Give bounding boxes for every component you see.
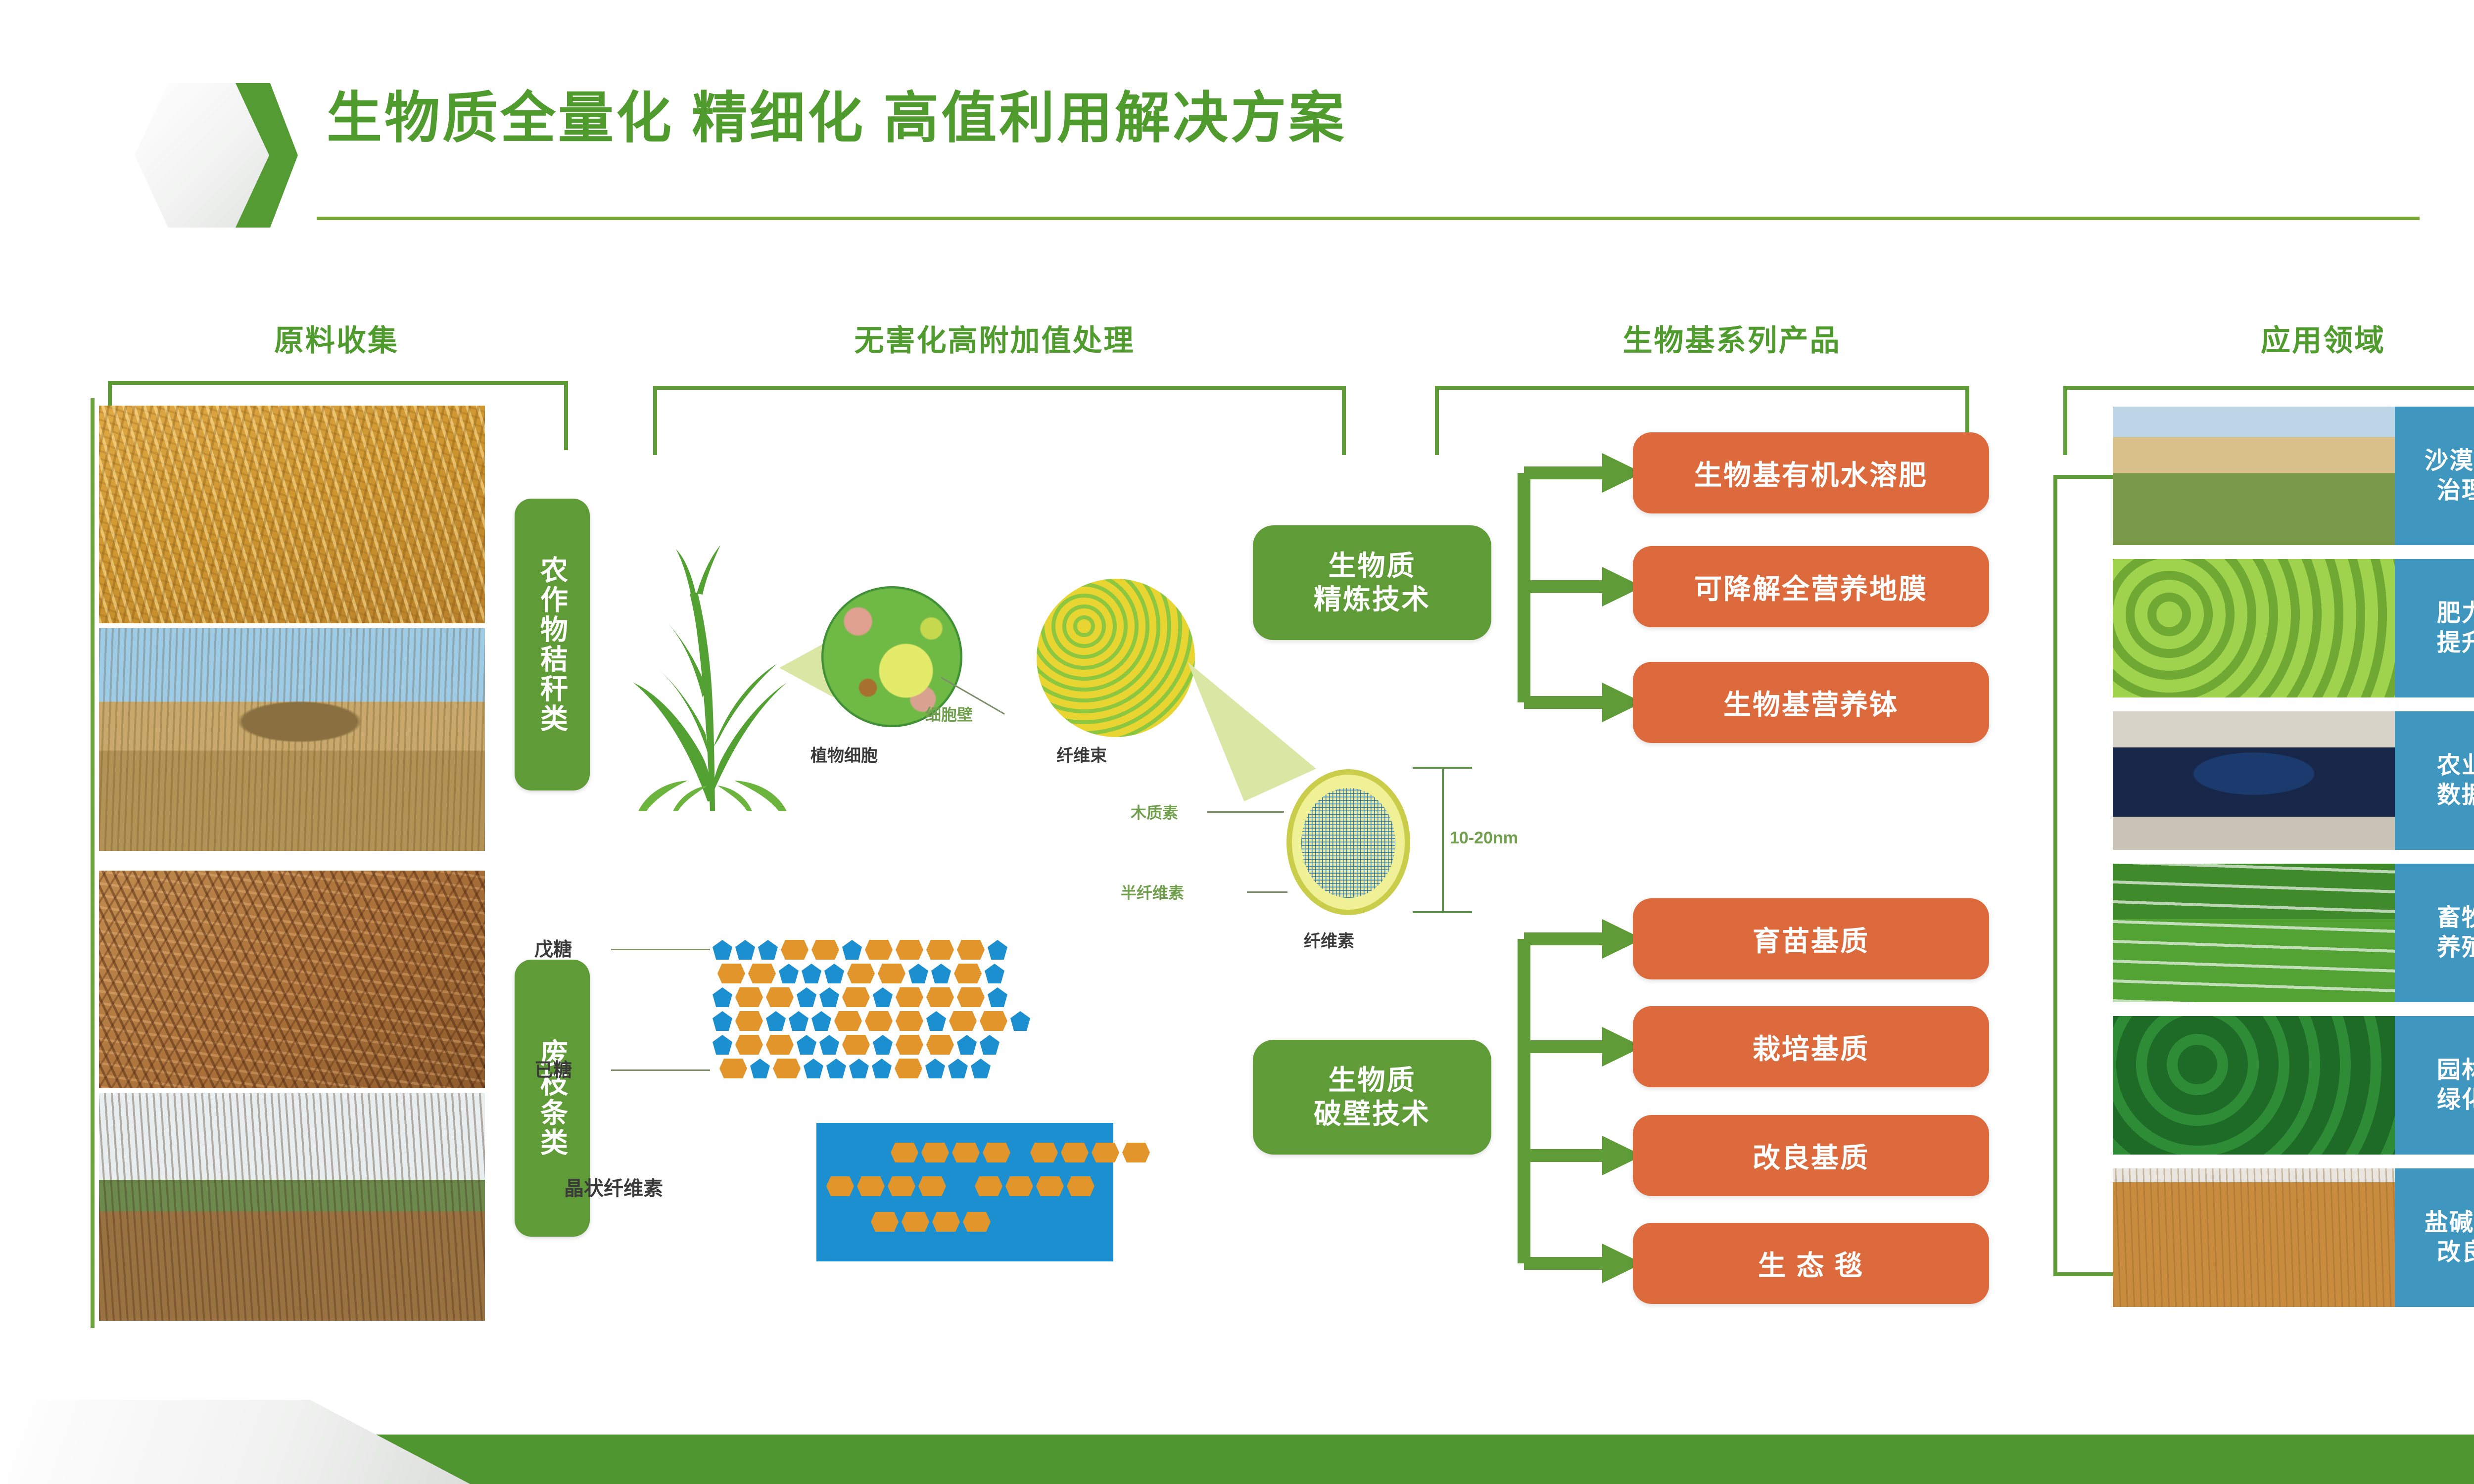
application-photo-desert-control — [2113, 407, 2395, 545]
column-header-processing: 无害化高附加值处理 — [648, 317, 1341, 360]
sugar-chain-row — [713, 940, 1007, 960]
sugar-chain-row — [713, 1011, 1030, 1031]
feedstock-rail — [91, 398, 95, 1328]
crystal-chain-row — [826, 1176, 1094, 1196]
product-box-ecological-blanket[interactable]: 生 态 毯 — [1633, 1223, 1989, 1304]
label-fiber-bundle: 纤维束 — [1056, 742, 1107, 766]
application-landscaping-line2: 绿化 — [2437, 1085, 2474, 1115]
application-photo-cabbage-field — [2113, 559, 2395, 697]
application-livestock-line2: 养殖 — [2437, 933, 2474, 963]
application-row-fertility[interactable]: 肥力 提升 — [2113, 559, 2474, 697]
column-header-products: 生物基系列产品 — [1435, 317, 2029, 360]
label-fiber-dimension: 10-20nm — [1450, 829, 1518, 848]
zoom-cone-fiber-to-cellulose — [1188, 653, 1316, 801]
page-header: 生物质全量化 精细化 高值利用解决方案 — [0, 0, 2474, 237]
column-header-applications: 应用领域 — [2118, 317, 2474, 360]
product-box-nutrition-pot[interactable]: 生物基营养钵 — [1633, 662, 1989, 743]
bracket-applications-left — [2053, 475, 2123, 1276]
application-desert-line2: 治理 — [2437, 476, 2474, 506]
grass-plant-icon — [628, 534, 792, 811]
application-agri-data-line1: 农业 — [2437, 751, 2474, 781]
feedstock-photo-dry-branches — [99, 871, 485, 1088]
application-photo-data-center — [2113, 711, 2395, 850]
hexagon-chevron-logo — [135, 83, 298, 228]
application-tag-desert-control[interactable]: 沙漠化 治理 — [2395, 407, 2474, 545]
application-fertility-line1: 肥力 — [2437, 599, 2474, 628]
fiber-bundle-illustration — [1037, 579, 1195, 737]
application-agri-data-line2: 数据 — [2437, 781, 2474, 810]
label-plant-cell: 植物细胞 — [810, 742, 878, 766]
application-landscaping-line1: 园林 — [2437, 1056, 2474, 1085]
label-hexose: 已糖 — [534, 1055, 572, 1082]
feedstock-tag-crop-straw: 农作物秸秆类 — [515, 499, 590, 790]
product-box-seedling-substrate[interactable]: 育苗基质 — [1633, 898, 1989, 979]
crystal-chain-row — [891, 1143, 1150, 1162]
application-tag-agri-data[interactable]: 农业 数据 — [2395, 711, 2474, 850]
label-crystalline-cellulose: 晶状纤维素 — [564, 1172, 663, 1201]
feedstock-photo-straw-bale — [99, 628, 485, 851]
technology-box-wall-breaking[interactable]: 生物质 破壁技术 — [1253, 1040, 1491, 1155]
application-fertility-line2: 提升 — [2437, 628, 2474, 658]
label-hemicellulose: 半纤维素 — [1121, 881, 1184, 903]
label-pentose: 戊糖 — [534, 934, 572, 961]
leader-line-hemicellulose — [1247, 891, 1287, 893]
application-tag-saline[interactable]: 盐碱地 改良 — [2395, 1168, 2474, 1307]
column-header-feedstock: 原料收集 — [143, 317, 529, 360]
technology-wall-breaking-line2: 破壁技术 — [1314, 1097, 1430, 1131]
sugar-chain-row — [713, 987, 1007, 1007]
application-saline-line2: 改良 — [2437, 1238, 2474, 1267]
title-underline — [317, 217, 2420, 220]
sugar-chain-diagram — [713, 940, 1079, 1083]
product-box-water-soluble-fertilizer[interactable]: 生物基有机水溶肥 — [1633, 432, 1989, 513]
application-tag-fertility[interactable]: 肥力 提升 — [2395, 559, 2474, 697]
application-photo-grazing-sheep — [2113, 864, 2395, 1002]
technology-refining-line1: 生物质 — [1329, 549, 1416, 583]
application-row-saline[interactable]: 盐碱地 改良 — [2113, 1168, 2474, 1307]
leader-line-pentose — [611, 949, 710, 950]
application-row-desert[interactable]: 沙漠化 治理 — [2113, 407, 2474, 545]
product-box-cultivation-substrate[interactable]: 栽培基质 — [1633, 1006, 1989, 1087]
label-cellulose: 纤维素 — [1304, 927, 1354, 952]
feedstock-photo-orchard-pruning — [99, 1093, 485, 1321]
application-row-livestock[interactable]: 畜牧 养殖 — [2113, 864, 2474, 1002]
leader-line-hexose — [611, 1069, 710, 1071]
crystalline-cellulose-illustration — [816, 1123, 1113, 1261]
application-row-agri-data[interactable]: 农业 数据 — [2113, 711, 2474, 850]
application-tag-livestock[interactable]: 畜牧 养殖 — [2395, 864, 2474, 1002]
application-photo-saline-land — [2113, 1168, 2395, 1307]
product-box-degradable-mulch-film[interactable]: 可降解全营养地膜 — [1633, 546, 1989, 627]
technology-wall-breaking-line1: 生物质 — [1329, 1064, 1416, 1097]
label-cell-wall: 细胞壁 — [925, 702, 973, 725]
technology-refining-line2: 精炼技术 — [1314, 583, 1430, 616]
technology-box-refining[interactable]: 生物质 精炼技术 — [1253, 525, 1491, 640]
sugar-chain-row — [717, 964, 1004, 983]
sugar-chain-row — [719, 1059, 991, 1078]
application-photo-park-trees — [2113, 1016, 2395, 1155]
application-row-landscaping[interactable]: 园林 绿化 — [2113, 1016, 2474, 1155]
application-desert-line1: 沙漠化 — [2425, 446, 2474, 476]
application-tag-landscaping[interactable]: 园林 绿化 — [2395, 1016, 2474, 1155]
dimension-line — [1442, 767, 1444, 913]
cellulose-core-mesh — [1301, 788, 1395, 898]
bracket-processing — [653, 386, 1346, 455]
leader-line-lignin — [1207, 811, 1284, 813]
application-saline-line1: 盐碱地 — [2425, 1208, 2474, 1238]
application-livestock-line1: 畜牧 — [2437, 903, 2474, 933]
feedstock-photo-corn-straw — [99, 406, 485, 623]
crystal-chain-row — [871, 1212, 991, 1232]
sugar-chain-row — [713, 1035, 999, 1055]
page-title: 生物质全量化 精细化 高值利用解决方案 — [327, 87, 1346, 150]
label-lignin: 木质素 — [1131, 800, 1178, 823]
product-box-improvement-substrate[interactable]: 改良基质 — [1633, 1115, 1989, 1196]
